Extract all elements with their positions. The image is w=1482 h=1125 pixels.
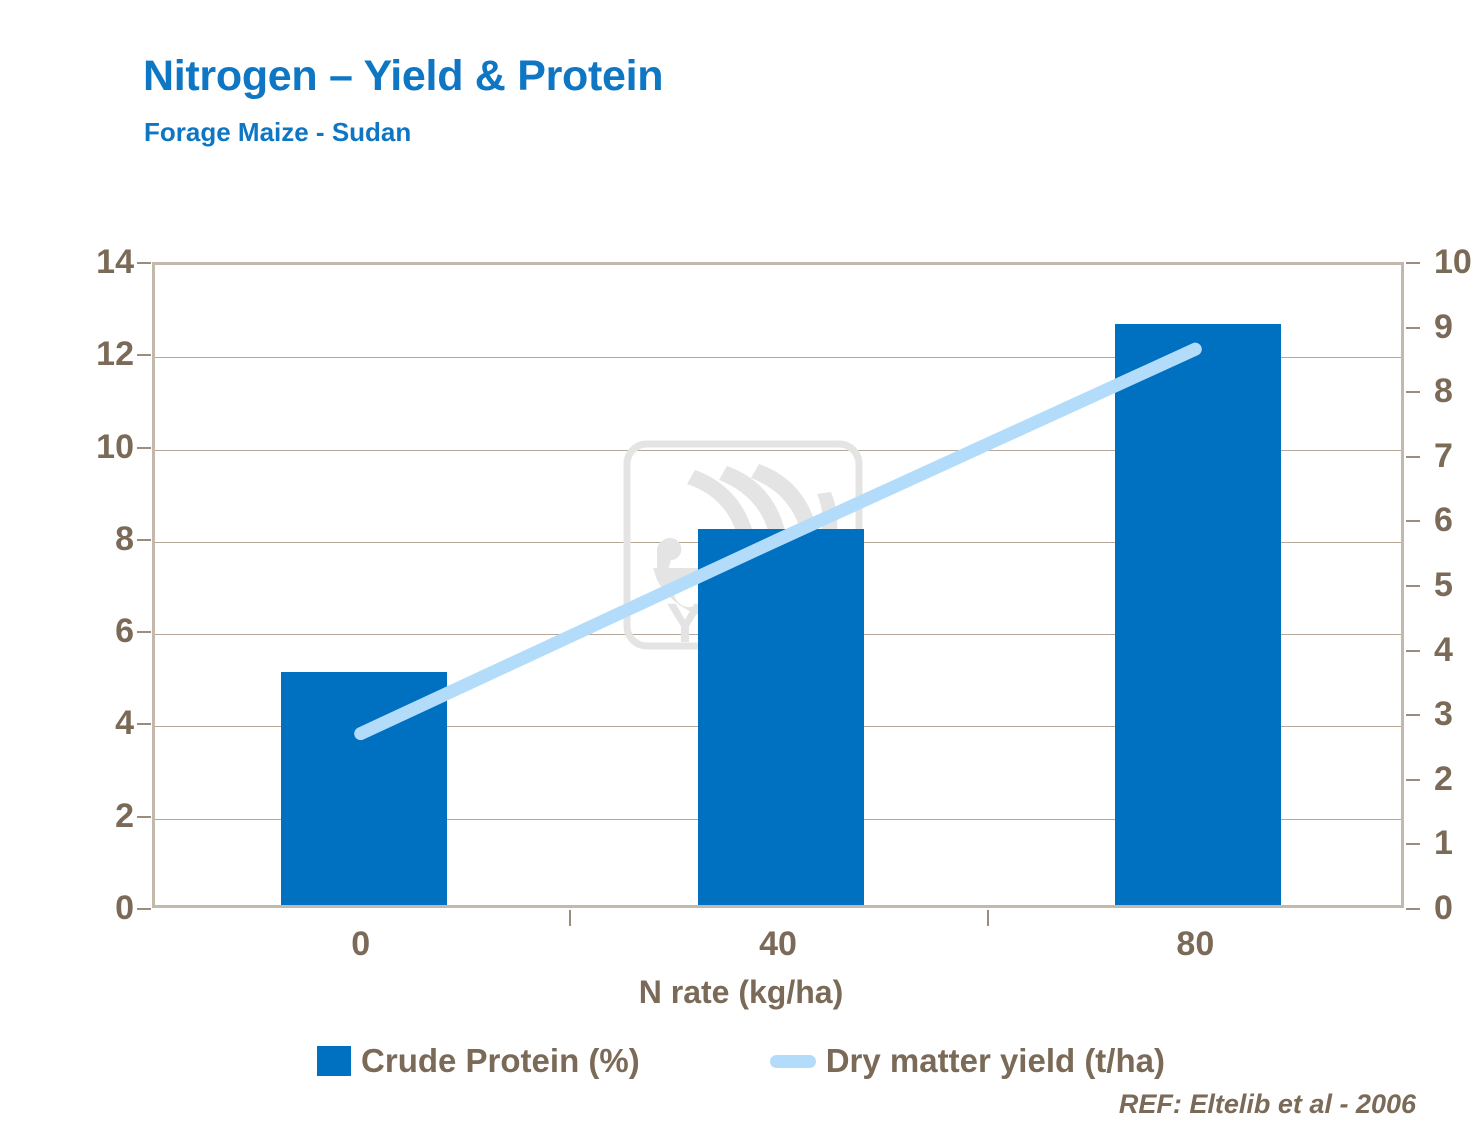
gridline <box>155 265 1401 266</box>
right-axis-tick-mark <box>1406 585 1420 587</box>
right-axis-tick-0: 0 <box>1434 891 1482 925</box>
bar-80[interactable] <box>1115 324 1281 905</box>
left-axis-tick-mark <box>137 262 151 264</box>
right-axis-tick-mark <box>1406 714 1420 716</box>
chart-title: Nitrogen – Yield & Protein <box>143 52 663 101</box>
category-label-80: 80 <box>1135 925 1255 964</box>
gridline <box>155 911 1401 912</box>
left-axis-tick-6: 6 <box>64 614 134 648</box>
left-axis-tick-10: 10 <box>64 430 134 464</box>
legend-item-dry-matter-yield[interactable]: Dry matter yield (t/ha) <box>770 1042 1165 1080</box>
right-axis-tick-mark <box>1406 779 1420 781</box>
left-axis-tick-4: 4 <box>64 706 134 740</box>
right-axis-tick-7: 7 <box>1434 439 1482 473</box>
chart-subtitle: Forage Maize - Sudan <box>144 117 411 148</box>
right-axis-tick-10: 10 <box>1434 245 1482 279</box>
right-axis-tick-3: 3 <box>1434 697 1482 731</box>
left-axis-tick-mark <box>137 723 151 725</box>
left-axis-tick-mark <box>137 354 151 356</box>
right-axis-tick-mark <box>1406 520 1420 522</box>
category-separator <box>987 910 989 926</box>
bar-40[interactable] <box>698 529 864 905</box>
left-axis-tick-12: 12 <box>64 337 134 371</box>
right-axis-tick-1: 1 <box>1434 826 1482 860</box>
left-axis-tick-mark <box>137 816 151 818</box>
right-axis-tick-mark <box>1406 843 1420 845</box>
left-axis-tick-14: 14 <box>64 245 134 279</box>
bar-0[interactable] <box>281 672 447 905</box>
right-axis-tick-8: 8 <box>1434 374 1482 408</box>
legend-label-dry-matter-yield: Dry matter yield (t/ha) <box>826 1042 1165 1080</box>
x-axis-title: N rate (kg/ha) <box>0 974 1482 1011</box>
category-label-0: 0 <box>301 925 421 964</box>
right-axis-tick-mark <box>1406 650 1420 652</box>
right-axis-tick-4: 4 <box>1434 633 1482 667</box>
reference-note: REF: Eltelib et al - 2006 <box>1119 1089 1416 1120</box>
right-axis-tick-mark <box>1406 327 1420 329</box>
category-label-40: 40 <box>718 925 838 964</box>
legend-line-swatch-icon <box>770 1055 816 1068</box>
left-axis-tick-mark <box>137 539 151 541</box>
left-axis-tick-mark <box>137 447 151 449</box>
legend-label-crude-protein: Crude Protein (%) <box>361 1042 640 1080</box>
right-axis-tick-2: 2 <box>1434 762 1482 796</box>
left-axis-tick-mark <box>137 631 151 633</box>
right-axis-tick-6: 6 <box>1434 503 1482 537</box>
right-axis-tick-mark <box>1406 391 1420 393</box>
legend-bar-swatch-icon <box>317 1046 351 1076</box>
left-axis-tick-mark <box>137 908 151 910</box>
category-separator <box>569 910 571 926</box>
left-axis-tick-8: 8 <box>64 522 134 556</box>
plot-area: YARA <box>152 262 1404 908</box>
legend-item-crude-protein[interactable]: Crude Protein (%) <box>317 1042 640 1080</box>
left-axis-tick-0: 0 <box>64 891 134 925</box>
right-axis-tick-9: 9 <box>1434 310 1482 344</box>
left-axis-tick-2: 2 <box>64 799 134 833</box>
right-axis-tick-mark <box>1406 908 1420 910</box>
right-axis-tick-mark <box>1406 262 1420 264</box>
chart-legend: Crude Protein (%) Dry matter yield (t/ha… <box>0 1042 1482 1080</box>
right-axis-tick-mark <box>1406 456 1420 458</box>
right-axis-tick-5: 5 <box>1434 568 1482 602</box>
